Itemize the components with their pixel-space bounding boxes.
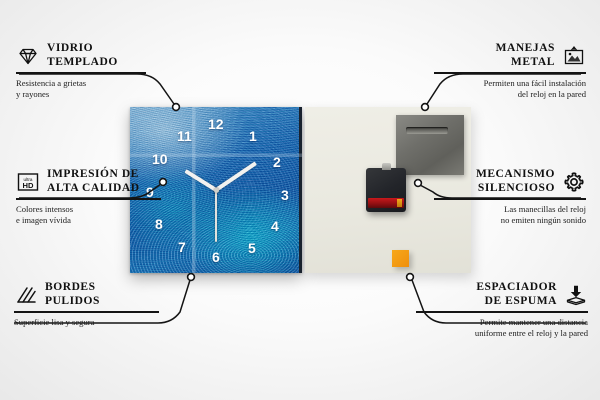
callout-desc-line1: Permiten una fácil instalación bbox=[434, 78, 586, 89]
callout-bordes-pulidos: BORDES PULIDOS Superficie lisa y segura bbox=[14, 281, 159, 328]
mechanism-shaft bbox=[382, 163, 391, 170]
foam-spacer bbox=[392, 250, 409, 267]
callout-title: VIDRIO TEMPLADO bbox=[47, 42, 118, 69]
ultra-hd-icon: ultra HD bbox=[16, 170, 40, 194]
callout-head: ultra HD IMPRESIÓN DE ALTA CALIDAD bbox=[16, 168, 161, 195]
callout-impresion-alta-calidad: ultra HD IMPRESIÓN DE ALTA CALIDAD Color… bbox=[16, 168, 161, 226]
callout-head: VIDRIO TEMPLADO bbox=[16, 42, 146, 69]
callout-manejas-metal: MANEJAS METAL Permiten una fácil instala… bbox=[434, 42, 586, 100]
callout-desc-line1: Las manecillas del reloj bbox=[434, 204, 586, 215]
wall-hanging-icon bbox=[562, 44, 586, 68]
callout-rule bbox=[16, 72, 146, 73]
callout-rule bbox=[14, 311, 159, 312]
callout-title-line2: PULIDOS bbox=[45, 295, 100, 309]
callout-title: MANEJAS METAL bbox=[496, 42, 555, 69]
callout-mecanismo-silencioso: MECANISMO SILENCIOSO Las manecillas del … bbox=[434, 168, 586, 226]
callout-title-line2: DE ESPUMA bbox=[476, 295, 557, 309]
clock-numeral-5: 5 bbox=[248, 241, 256, 255]
callout-title-line1: ESPACIADOR bbox=[476, 281, 557, 295]
svg-text:HD: HD bbox=[23, 181, 34, 190]
hanger-slot bbox=[406, 127, 448, 134]
clock-numeral-4: 4 bbox=[271, 219, 279, 233]
callout-title: ESPACIADOR DE ESPUMA bbox=[476, 281, 557, 308]
callout-desc: Las manecillas del reloj no emiten ningú… bbox=[434, 204, 586, 227]
callout-desc: Colores intensos e imagen vívida bbox=[16, 204, 161, 227]
clock-numeral-7: 7 bbox=[178, 240, 186, 254]
callout-desc: Resistencia a grietas y rayones bbox=[16, 78, 146, 101]
callout-title: BORDES PULIDOS bbox=[45, 281, 100, 308]
infographic-stage: 12 1 2 3 4 5 6 7 8 9 10 11 bbox=[0, 0, 600, 400]
callout-title-line1: MANEJAS bbox=[496, 42, 555, 56]
callout-desc: Superficie lisa y segura bbox=[14, 317, 159, 328]
callout-head: MECANISMO SILENCIOSO bbox=[434, 168, 586, 195]
polished-edges-icon bbox=[14, 283, 38, 307]
callout-desc-line2: uniforme entre el reloj y la pared bbox=[416, 328, 588, 339]
callout-title-line2: METAL bbox=[496, 56, 555, 70]
callout-rule bbox=[16, 198, 161, 199]
callout-title-line1: VIDRIO bbox=[47, 42, 118, 56]
callout-title-line1: MECANISMO bbox=[476, 168, 555, 182]
clock-numeral-3: 3 bbox=[281, 188, 289, 202]
callout-title-line2: TEMPLADO bbox=[47, 56, 118, 70]
clock-numeral-1: 1 bbox=[249, 129, 257, 143]
callout-desc: Permite mantener una distancia uniforme … bbox=[416, 317, 588, 340]
clock-numeral-2: 2 bbox=[273, 155, 281, 169]
callout-desc-line2: del reloj en la pared bbox=[434, 89, 586, 100]
foam-spacer-icon bbox=[564, 283, 588, 307]
callout-rule bbox=[416, 311, 588, 312]
callout-espaciador-espuma: ESPACIADOR DE ESPUMA Permite mantener un… bbox=[416, 281, 588, 339]
diamond-icon bbox=[16, 44, 40, 68]
callout-head: BORDES PULIDOS bbox=[14, 281, 159, 308]
callout-desc-line1: Resistencia a grietas bbox=[16, 78, 146, 89]
callout-head: MANEJAS METAL bbox=[434, 42, 586, 69]
clock-numeral-10: 10 bbox=[152, 152, 168, 166]
callout-title: MECANISMO SILENCIOSO bbox=[476, 168, 555, 195]
callout-title-line1: IMPRESIÓN DE bbox=[47, 168, 140, 182]
callout-rule bbox=[434, 72, 586, 73]
callout-vidrio-templado: VIDRIO TEMPLADO Resistencia a grietas y … bbox=[16, 42, 146, 100]
callout-desc-line2: e imagen vívida bbox=[16, 215, 161, 226]
clock-second-hand bbox=[215, 190, 216, 242]
clock-mechanism bbox=[366, 168, 406, 212]
callout-desc: Permiten una fácil instalación del reloj… bbox=[434, 78, 586, 101]
callout-title-line1: BORDES bbox=[45, 281, 100, 295]
battery bbox=[368, 198, 403, 208]
callout-desc-line1: Superficie lisa y segura bbox=[14, 317, 159, 328]
callout-title-line2: SILENCIOSO bbox=[476, 182, 555, 196]
clock-center-hub bbox=[214, 188, 219, 193]
callout-desc-line1: Colores intensos bbox=[16, 204, 161, 215]
metal-hanger-plate bbox=[396, 115, 464, 175]
callout-rule bbox=[434, 198, 586, 199]
callout-title-line2: ALTA CALIDAD bbox=[47, 182, 140, 196]
callout-desc-line1: Permite mantener una distancia bbox=[416, 317, 588, 328]
callout-head: ESPACIADOR DE ESPUMA bbox=[416, 281, 588, 308]
clock-numeral-11: 11 bbox=[177, 129, 192, 143]
callout-desc-line2: no emiten ningún sonido bbox=[434, 215, 586, 226]
gear-icon bbox=[562, 170, 586, 194]
clock-numeral-6: 6 bbox=[212, 250, 220, 264]
clock-numeral-12: 12 bbox=[208, 117, 224, 131]
callout-title: IMPRESIÓN DE ALTA CALIDAD bbox=[47, 168, 140, 195]
callout-desc-line2: y rayones bbox=[16, 89, 146, 100]
